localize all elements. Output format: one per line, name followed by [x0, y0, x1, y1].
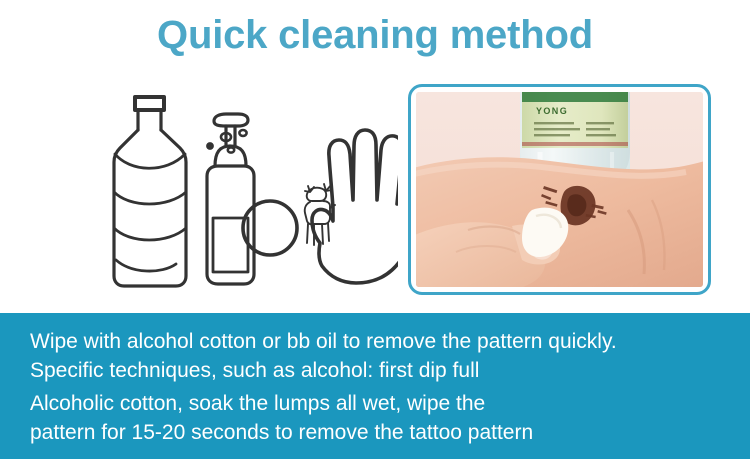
instructions-panel: Wipe with alcohol cotton or bb oil to re… — [0, 313, 750, 459]
instruction-paragraph-1: Wipe with alcohol cotton or bb oil to re… — [30, 327, 617, 385]
svg-text:YONG: YONG — [536, 106, 568, 116]
instruction-line: Specific techniques, such as alcohol: fi… — [30, 356, 617, 385]
cotton-ball-icon — [243, 201, 297, 255]
instruction-paragraph-2: Alcoholic cotton, soak the lumps all wet… — [30, 389, 533, 447]
page-title: Quick cleaning method — [0, 12, 750, 58]
quick-cleaning-method-infographic: Quick cleaning method — [0, 0, 750, 472]
instruction-line: Wipe with alcohol cotton or bb oil to re… — [30, 327, 617, 356]
tattoo-removal-photo-card: YONG — [408, 84, 711, 295]
tattoo-removal-photo: YONG — [416, 92, 703, 287]
hand-icon — [312, 130, 398, 283]
instruction-line: pattern for 15-20 seconds to remove the … — [30, 418, 533, 447]
cleaning-supplies-illustration — [58, 88, 398, 293]
alcohol-bottle-icon — [114, 97, 186, 286]
instruction-line: Alcoholic cotton, soak the lumps all wet… — [30, 389, 533, 418]
